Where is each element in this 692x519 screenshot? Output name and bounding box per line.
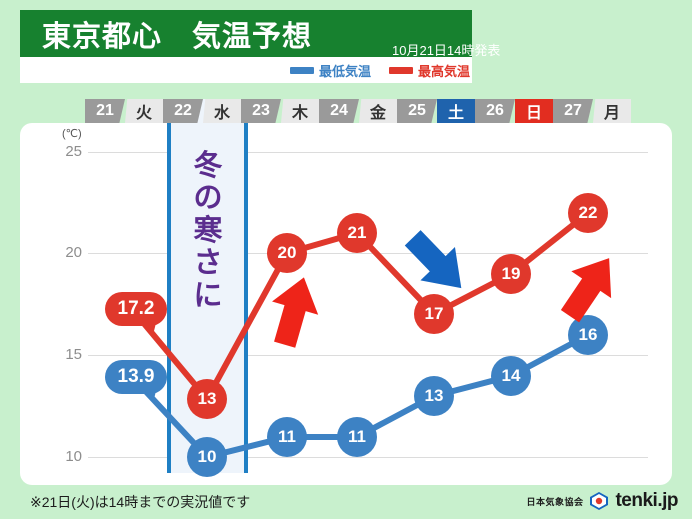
blue-down-arrow xyxy=(400,224,474,302)
date-cell: 26 日 xyxy=(475,99,553,123)
date-weekday-sunday: 日 xyxy=(515,99,553,123)
temperature-chart: (℃) 25 20 15 10 冬 の 寒 さ に 17.2 13.9 13 2… xyxy=(0,0,692,519)
date-cell: 25 土 xyxy=(397,99,475,123)
date-number: 25 xyxy=(397,99,437,123)
min-temp-point-oct22: 10 xyxy=(187,437,227,477)
red-up-arrow-right xyxy=(556,248,622,328)
max-temp-point-oct26: 19 xyxy=(491,254,531,294)
min-temp-callout-oct21: 13.9 xyxy=(105,360,167,394)
date-number: 22 xyxy=(163,99,203,123)
date-header-row: 21 火 22 水 23 木 24 金 25 土 26 日 27 月 xyxy=(85,99,631,123)
date-number: 26 xyxy=(475,99,515,123)
date-cell: 27 月 xyxy=(553,99,631,123)
date-weekday: 火 xyxy=(125,99,163,123)
max-temp-point-oct27: 22 xyxy=(568,193,608,233)
date-cell: 21 火 xyxy=(85,99,163,123)
min-temp-point-oct25: 13 xyxy=(414,376,454,416)
date-cell: 23 木 xyxy=(241,99,319,123)
date-number: 24 xyxy=(319,99,359,123)
max-temp-point-oct23: 20 xyxy=(267,233,307,273)
date-weekday: 水 xyxy=(203,99,241,123)
date-weekday: 木 xyxy=(281,99,319,123)
date-weekday: 月 xyxy=(593,99,631,123)
min-temp-point-oct24: 11 xyxy=(337,417,377,457)
date-weekday: 金 xyxy=(359,99,397,123)
max-temp-point-oct24: 21 xyxy=(337,213,377,253)
date-cell: 22 水 xyxy=(163,99,241,123)
red-up-arrow-left xyxy=(262,272,326,352)
min-temp-point-oct26: 14 xyxy=(491,356,531,396)
max-temp-point-oct22: 13 xyxy=(187,379,227,419)
date-weekday-saturday: 土 xyxy=(437,99,475,123)
date-number: 23 xyxy=(241,99,281,123)
max-temp-callout-oct21: 17.2 xyxy=(105,292,167,326)
date-number: 27 xyxy=(553,99,593,123)
min-temp-point-oct23: 11 xyxy=(267,417,307,457)
date-number: 21 xyxy=(85,99,125,123)
date-cell: 24 金 xyxy=(319,99,397,123)
